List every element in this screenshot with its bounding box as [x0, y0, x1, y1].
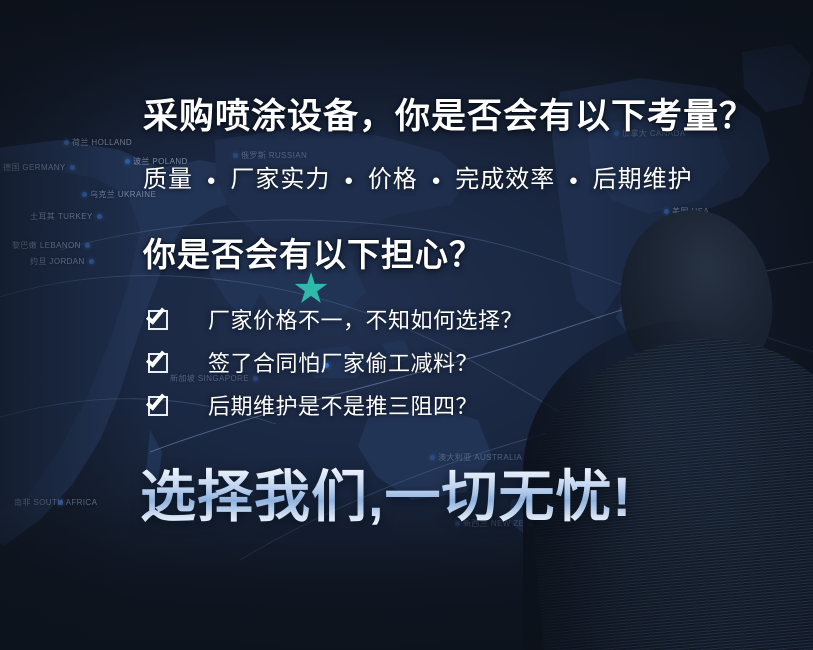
considerations-list: 质量 ● 厂家实力 ● 价格 ● 完成效率 ● 后期维护 [143, 159, 693, 194]
checkbox-checked-icon [148, 351, 170, 373]
list-item: 后期维护是不是推三阻四？ [148, 389, 523, 421]
checkbox-checked-icon [148, 308, 170, 330]
bullet-separator-icon: ● [201, 172, 223, 189]
headline-primary: 采购喷涂设备，你是否会有以下考量？ [143, 88, 755, 139]
promo-banner: 荷兰 HOLLAND 波兰 POLAND 德国 GERMANY 乌克兰 UKRA… [0, 0, 813, 650]
list-item: 签了合同怕厂家偷工减料？ [148, 346, 523, 378]
bullet-separator-icon: ● [338, 172, 360, 189]
checkbox-checked-icon [148, 394, 170, 416]
consideration-quality: 质量 [143, 166, 193, 193]
consideration-price: 价格 [368, 166, 418, 193]
worry-text-maintenance: 后期维护是不是推三阻四？ [208, 389, 478, 421]
consideration-capability: 厂家实力 [230, 166, 330, 193]
worry-text-contract: 签了合同怕厂家偷工减料？ [208, 346, 478, 378]
worry-list: 厂家价格不一，不知如何选择？ 签了合同怕厂家偷工减料？ 后期维护是不是推三阻四？ [148, 303, 523, 432]
list-item: 厂家价格不一，不知如何选择？ [148, 303, 523, 335]
headline-secondary: 你是否会有以下担心？ [143, 228, 483, 276]
consideration-maintenance: 后期维护 [593, 166, 693, 193]
worry-text-price: 厂家价格不一，不知如何选择？ [208, 303, 523, 335]
banner-content: 采购喷涂设备，你是否会有以下考量？ 质量 ● 厂家实力 ● 价格 ● 完成效率 … [0, 0, 813, 650]
bullet-separator-icon: ● [563, 172, 585, 189]
bullet-separator-icon: ● [425, 172, 447, 189]
consideration-efficiency: 完成效率 [455, 166, 555, 193]
slogan-text: 选择我们,一切无忧! [140, 452, 632, 533]
